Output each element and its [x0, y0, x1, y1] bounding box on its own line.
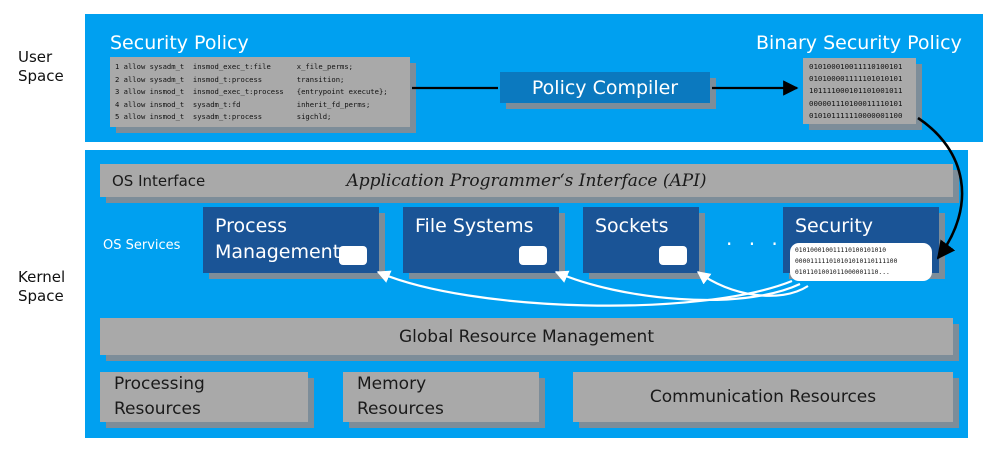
user-space-label: User Space [18, 48, 64, 86]
service-label: Process Management [215, 215, 340, 263]
box-face: OS Interface Application Programmer‘s In… [100, 164, 953, 197]
global-resource-management-label: Global Resource Management [399, 327, 654, 347]
global-resource-management-box: Global Resource Management [100, 318, 953, 355]
resource-box-memory: Memory Resources [343, 372, 539, 422]
security-hook-tab-icon [659, 246, 687, 265]
policy-compiler-label: Policy Compiler [532, 77, 678, 99]
kernel-space-label: Kernel Space [18, 268, 65, 306]
box-face: Communication Resources [573, 372, 953, 422]
box-face: Global Resource Management [100, 318, 953, 355]
diagram-canvas: User Space Kernel Space Security Policy … [0, 0, 1002, 450]
service-label: Sockets [595, 215, 669, 237]
box-face: 1 allow sysadm_t insmod_exec_t:file x_fi… [110, 57, 410, 127]
resource-label: Processing Resources [114, 372, 205, 422]
box-face: Process Management [203, 207, 379, 273]
box-face: File Systems [403, 207, 559, 273]
resource-box-processing: Processing Resources [100, 372, 308, 422]
resource-label: Communication Resources [650, 385, 876, 410]
services-ellipsis: . . . [726, 226, 783, 250]
box-face: Processing Resources [100, 372, 308, 422]
security-server-policy-bubble: 010100010011110100101010 000011111010101… [790, 243, 932, 281]
box-face: Sockets [583, 207, 699, 273]
api-label: Application Programmer‘s Interface (API) [100, 171, 953, 191]
service-label: File Systems [415, 215, 534, 237]
os-services-label: OS Services [103, 238, 180, 253]
security-policy-code-text: 1 allow sysadm_t insmod_exec_t:file x_fi… [115, 61, 407, 125]
security-hook-tab-icon [519, 246, 547, 265]
service-box-sockets[interactable]: Sockets [583, 207, 699, 273]
resource-box-communication: Communication Resources [573, 372, 953, 422]
policy-compiler-box[interactable]: Policy Compiler [500, 72, 710, 103]
box-face: Policy Compiler [500, 72, 710, 103]
security-policy-heading: Security Policy [110, 32, 249, 54]
service-box-process-management[interactable]: Process Management [203, 207, 379, 273]
binary-security-policy-box: 010100010011110100101 010100001111101010… [803, 58, 916, 124]
box-face: Memory Resources [343, 372, 539, 422]
security-server-binary-text: 010100010011110100101010 000011111010101… [795, 246, 897, 278]
resource-label: Memory Resources [357, 372, 444, 422]
binary-policy-code-text: 010100010011110100101 010100001111101010… [809, 61, 902, 122]
security-policy-code-box: 1 allow sysadm_t insmod_exec_t:file x_fi… [110, 57, 410, 127]
os-interface-box: OS Interface Application Programmer‘s In… [100, 164, 953, 197]
binary-security-policy-heading: Binary Security Policy [756, 32, 962, 54]
box-face: 010100010011110100101 010100001111101010… [803, 58, 916, 124]
service-box-file-systems[interactable]: File Systems [403, 207, 559, 273]
security-hook-tab-icon [339, 246, 367, 265]
